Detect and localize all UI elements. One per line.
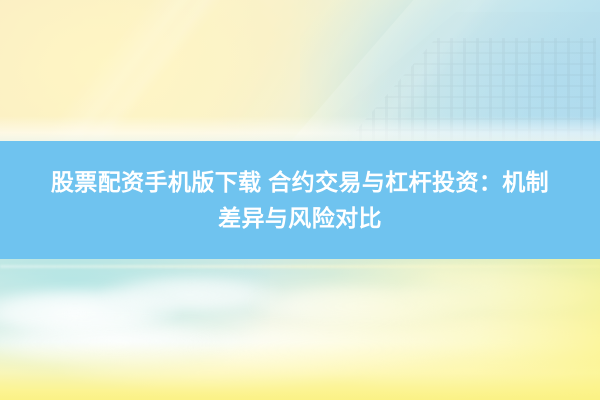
top-bottom-fade: [0, 116, 600, 142]
banner-title: 股票配资手机版下载 合约交易与杠杆投资：机制差异与风险对比: [20, 164, 580, 236]
banner-title-line-2: 差异与风险对比: [218, 205, 382, 231]
top-background-scene: [0, 0, 600, 142]
title-band: 股票配资手机版下载 合约交易与杠杆投资：机制差异与风险对比: [0, 141, 600, 259]
bottom-sky-scene: [0, 259, 600, 400]
banner-title-line-1: 股票配资手机版下载 合约交易与杠杆投资：机制: [51, 169, 549, 195]
banner-image: 股票配资手机版下载 合约交易与杠杆投资：机制差异与风险对比: [0, 0, 600, 400]
title-band-inner: 股票配资手机版下载 合约交易与杠杆投资：机制差异与风险对比: [20, 164, 580, 236]
sky-bottom-warm: [0, 342, 600, 400]
